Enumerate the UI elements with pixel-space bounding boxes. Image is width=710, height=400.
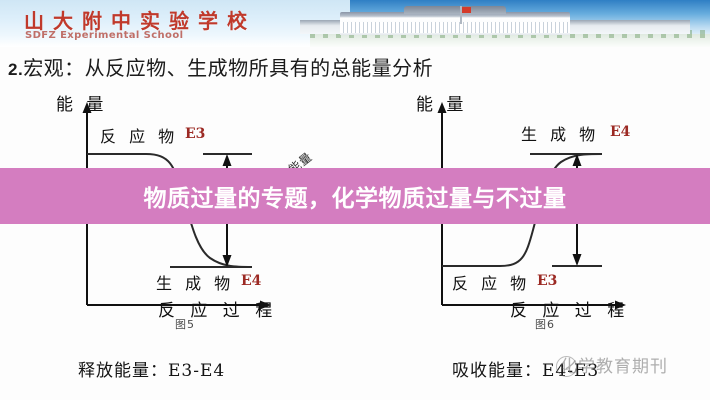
slide-page: 山大附中实验学校 SDFZ Experimental School 2.宏观：从… <box>0 0 710 400</box>
reactant-energy-symbol: E3 <box>185 126 205 142</box>
section-heading: 2.宏观：从反应物、生成物所具有的总能量分析 <box>8 52 433 81</box>
gap-arrow-down-head <box>573 254 582 266</box>
conclusion-released-energy: 释放能量：E3-E4 <box>78 356 225 381</box>
reactant-energy-symbol: E3 <box>537 273 557 289</box>
y-axis-arrowhead <box>438 102 447 113</box>
gap-arrow-up-head <box>223 154 232 166</box>
overlay-band-title: 物质过量的专题，化学物质过量与不过量 <box>0 168 710 224</box>
product-energy-symbol: E4 <box>610 124 630 140</box>
product-level-label: 生 成 物 <box>156 270 234 294</box>
reactant-level-label: 反 应 物 <box>452 270 530 294</box>
product-level-label: 生 成 物 <box>521 121 599 145</box>
conclusion-absorbed-energy: 吸收能量：E4-E3 <box>452 356 599 381</box>
figure-6-caption: 图6 <box>380 316 710 332</box>
school-header-banner: 山大附中实验学校 SDFZ Experimental School <box>0 0 710 47</box>
building-right-wing <box>570 20 690 34</box>
section-heading-text: 宏观：从反应物、生成物所具有的总能量分析 <box>23 56 433 80</box>
building-colonnade <box>340 22 570 33</box>
product-energy-symbol: E4 <box>241 273 261 289</box>
y-axis-arrowhead <box>83 102 92 113</box>
school-name-en: SDFZ Experimental School <box>25 30 183 41</box>
section-number: 2. <box>8 60 23 79</box>
flag-icon <box>460 6 462 24</box>
figure-5-caption: 图5 <box>20 316 350 332</box>
reactant-level-label: 反 应 物 <box>100 123 178 147</box>
